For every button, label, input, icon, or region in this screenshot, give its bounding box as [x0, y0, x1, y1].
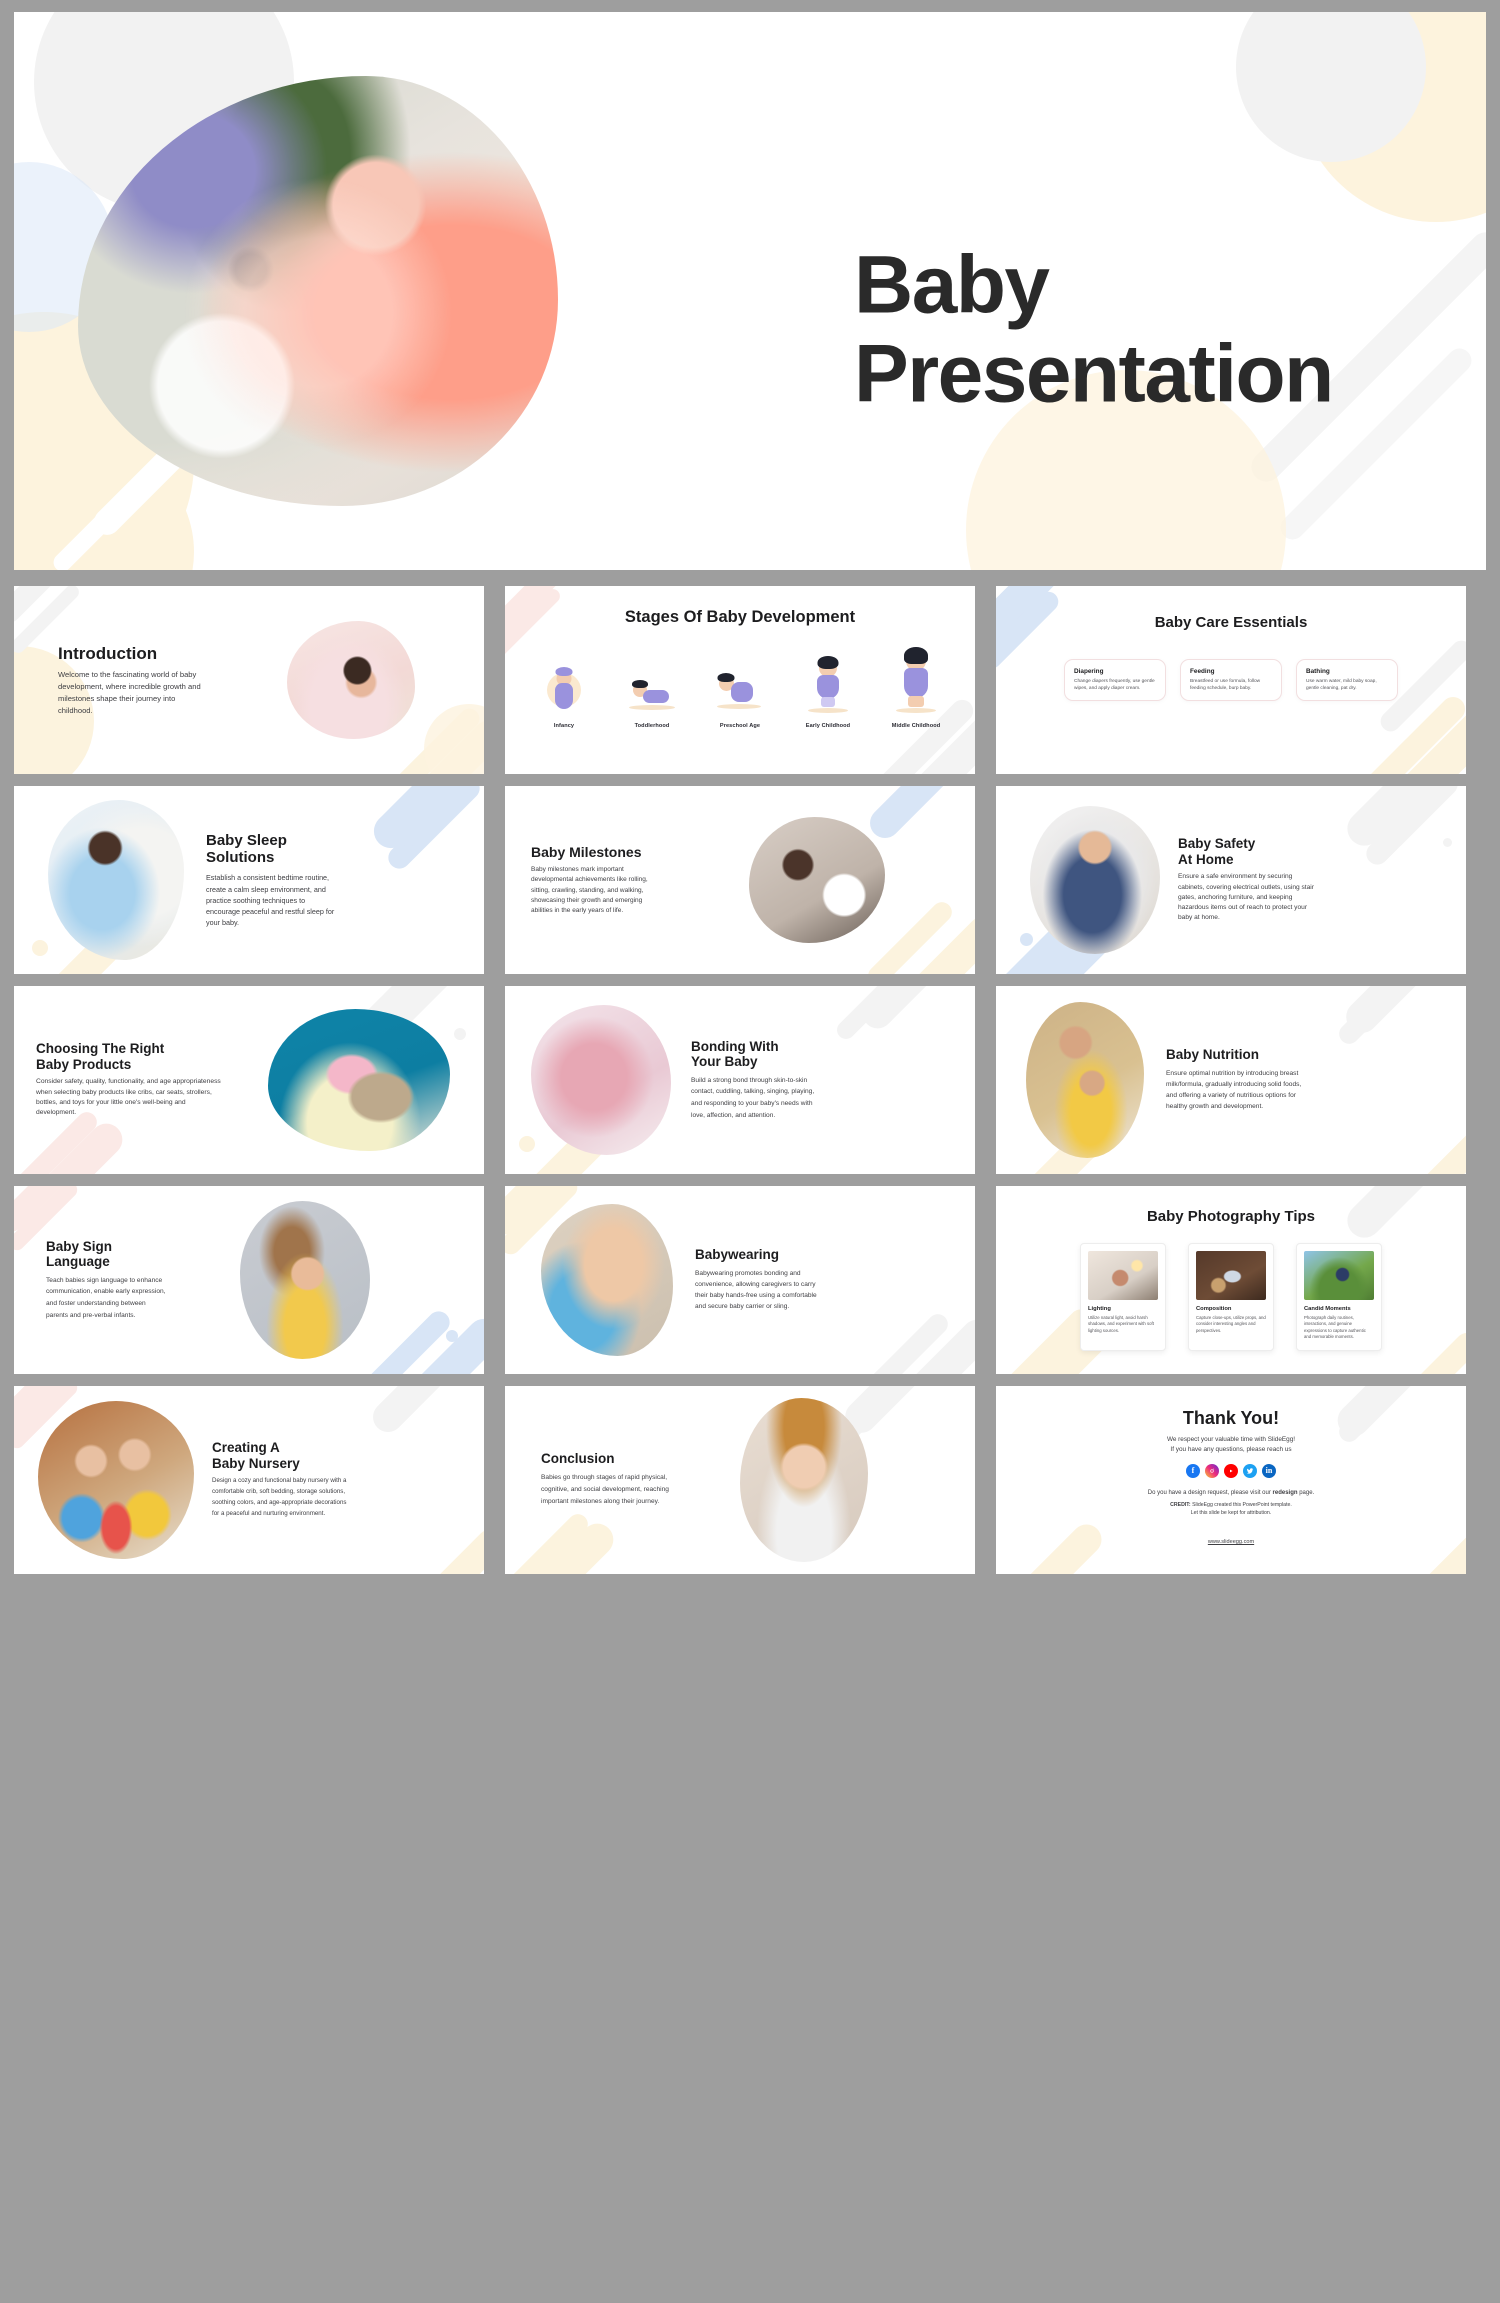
photography-card-row: Lighting Utilize natural light, avoid ha… [996, 1243, 1466, 1351]
slide-photo [740, 1398, 868, 1562]
slide-introduction[interactable]: Introduction Welcome to the fascinating … [14, 586, 484, 774]
slide-title-line-2: Solutions [206, 849, 400, 866]
credit-body: SlideEgg created this PowerPoint templat… [1191, 1502, 1292, 1508]
card-title: Lighting [1088, 1306, 1158, 1312]
slide-title-line-1: Baby Safety [1178, 836, 1386, 852]
preschool-age-figure [709, 663, 771, 715]
slide-title-line-2: Baby Products [36, 1057, 268, 1073]
credit-label: CREDIT: [1170, 1502, 1190, 1508]
instagram-icon[interactable] [1205, 1464, 1219, 1478]
slide-baby-nutrition[interactable]: Baby Nutrition Ensure optimal nutrition … [996, 986, 1466, 1174]
slide-body: Establish a consistent bedtime routine, … [206, 872, 338, 928]
stage-label: Preschool Age [709, 723, 771, 729]
slide-title-line-2: At Home [1178, 852, 1386, 868]
slide-body: Teach babies sign language to enhance co… [46, 1275, 166, 1321]
slide-body: Babywearing promotes bonding and conveni… [695, 1268, 827, 1313]
stage-label: Middle Childhood [885, 723, 947, 729]
early-childhood-figure [797, 657, 859, 715]
slide-title: Baby Milestones [531, 844, 749, 860]
card-photo [1304, 1251, 1374, 1300]
slide-photo [240, 1201, 370, 1359]
slide-body: Ensure optimal nutrition by introducing … [1166, 1068, 1308, 1113]
slide-title: Baby Care Essentials [996, 614, 1466, 631]
slide-title: Baby Sign Language [46, 1239, 240, 1270]
card-body: Capture close-ups, utilize props, and co… [1196, 1315, 1266, 1334]
credit-text: CREDIT: SlideEgg created this PowerPoint… [996, 1501, 1466, 1518]
slide-body: Build a strong bond through skin-to-skin… [691, 1075, 817, 1121]
stage-item: Toddlerhood [621, 663, 683, 729]
stage-label: Early Childhood [797, 723, 859, 729]
slide-title-line-2: Your Baby [691, 1054, 887, 1070]
stage-label: Infancy [533, 723, 595, 729]
slide-baby-safety-at-home[interactable]: Baby Safety At Home Ensure a safe enviro… [996, 786, 1466, 974]
presentation-preview-page: Baby Presentation Introduction Welcome t… [0, 0, 1500, 2303]
card-title: Candid Moments [1304, 1306, 1374, 1312]
slide-baby-photography-tips[interactable]: Baby Photography Tips Lighting Utilize n… [996, 1186, 1466, 1374]
hero-slide[interactable]: Baby Presentation [14, 12, 1486, 570]
youtube-icon[interactable] [1224, 1464, 1238, 1478]
card-body: Photograph daily routines, interactions,… [1304, 1315, 1374, 1341]
slide-photo [48, 800, 184, 960]
thank-you-line-2: If you have any questions, please reach … [996, 1445, 1466, 1455]
slide-title: Bonding With Your Baby [691, 1039, 887, 1070]
slide-title: Babywearing [695, 1247, 889, 1263]
middle-childhood-figure [885, 649, 947, 715]
toddlerhood-figure [621, 663, 683, 715]
slide-conclusion[interactable]: Conclusion Babies go through stages of r… [505, 1386, 975, 1574]
facebook-icon[interactable]: f [1186, 1464, 1200, 1478]
stage-label: Toddlerhood [621, 723, 683, 729]
slide-photo [749, 817, 885, 943]
twitter-icon[interactable] [1243, 1464, 1257, 1478]
linkedin-icon[interactable]: in [1262, 1464, 1276, 1478]
slide-stages-of-baby-development[interactable]: Stages Of Baby Development Infancy [505, 586, 975, 774]
card-body: Use warm water, mild baby soap, gentle c… [1306, 678, 1388, 692]
photography-card[interactable]: Composition Capture close-ups, utilize p… [1188, 1243, 1274, 1351]
slide-photo [287, 621, 415, 739]
slide-title-line-1: Choosing The Right [36, 1041, 268, 1057]
stage-item: Preschool Age [709, 663, 771, 729]
website-link[interactable]: www.slideegg.com [996, 1538, 1466, 1547]
slide-choosing-the-right-baby-products[interactable]: Choosing The Right Baby Products Conside… [14, 986, 484, 1174]
design-request-text: Do you have a design request, please vis… [996, 1489, 1466, 1499]
hero-title: Baby Presentation [854, 241, 1333, 418]
slide-title: Thank You! [996, 1408, 1466, 1429]
slide-baby-sleep-solutions[interactable]: Baby Sleep Solutions Establish a consist… [14, 786, 484, 974]
slide-body: Baby milestones mark important developme… [531, 865, 663, 915]
slide-body: Ensure a safe environment by securing ca… [1178, 872, 1318, 923]
card-title: Composition [1196, 1306, 1266, 1312]
slide-bonding-with-your-baby[interactable]: Bonding With Your Baby Build a strong bo… [505, 986, 975, 1174]
slide-title-line-2: Language [46, 1254, 240, 1270]
design-request-suffix: page. [1298, 1490, 1315, 1496]
slide-photo [1026, 1002, 1144, 1158]
slide-title: Baby Nutrition [1166, 1047, 1379, 1063]
slide-title-line-1: Creating A [212, 1440, 420, 1456]
essentials-card-row: Diapering Change diapers frequently, use… [996, 659, 1466, 701]
slide-baby-sign-language[interactable]: Baby Sign Language Teach babies sign lan… [14, 1186, 484, 1374]
slide-title-line-1: Baby Sign [46, 1239, 240, 1255]
slide-title: Baby Photography Tips [996, 1208, 1466, 1225]
slide-babywearing[interactable]: Babywearing Babywearing promotes bonding… [505, 1186, 975, 1374]
slide-body: Babies go through stages of rapid physic… [541, 1472, 669, 1509]
infancy-figure [533, 663, 595, 715]
slide-title: Baby Safety At Home [1178, 836, 1386, 867]
slide-title: Conclusion [541, 1451, 740, 1467]
slide-creating-a-baby-nursery[interactable]: Creating A Baby Nursery Design a cozy an… [14, 1386, 484, 1574]
slide-title-line-1: Baby Sleep [206, 832, 400, 849]
photography-card[interactable]: Lighting Utilize natural light, avoid ha… [1080, 1243, 1166, 1351]
social-links: f in [996, 1464, 1466, 1478]
slide-title: Stages Of Baby Development [505, 608, 975, 627]
credit-note: Let this slide be kept for attribution. [1026, 1509, 1436, 1517]
slide-title-line-1: Bonding With [691, 1039, 887, 1055]
slide-baby-care-essentials[interactable]: Baby Care Essentials Diapering Change di… [996, 586, 1466, 774]
card-photo [1196, 1251, 1266, 1300]
essentials-card[interactable]: Bathing Use warm water, mild baby soap, … [1296, 659, 1398, 701]
slide-title: Baby Sleep Solutions [206, 832, 400, 867]
slide-title-line-2: Baby Nursery [212, 1456, 420, 1472]
slide-baby-milestones[interactable]: Baby Milestones Baby milestones mark imp… [505, 786, 975, 974]
stage-item: Infancy [533, 663, 595, 729]
slide-title: Choosing The Right Baby Products [36, 1041, 268, 1072]
slide-body: Consider safety, quality, functionality,… [36, 1077, 224, 1119]
hero-title-line-1: Baby [854, 241, 1333, 330]
slide-photo [1030, 806, 1160, 954]
redesign-link[interactable]: redesign [1273, 1490, 1298, 1496]
hero-title-line-2: Presentation [854, 330, 1333, 419]
slide-photo [38, 1401, 194, 1559]
slide-thumbnail-grid: Introduction Welcome to the fascinating … [14, 586, 1486, 1574]
slide-title: Creating A Baby Nursery [212, 1440, 420, 1471]
essentials-card[interactable]: Feeding Breastfeed or use formula, follo… [1180, 659, 1282, 701]
stage-item: Early Childhood [797, 657, 859, 729]
slide-thank-you[interactable]: Thank You! We respect your valuable time… [996, 1386, 1466, 1574]
stages-list: Infancy Toddlerhood [505, 649, 975, 729]
card-body: Change diapers frequently, use gentle wi… [1074, 678, 1156, 692]
stage-item: Middle Childhood [885, 649, 947, 729]
slide-photo [268, 1009, 450, 1151]
slide-body: Design a cozy and functional baby nurser… [212, 1476, 352, 1519]
card-title: Feeding [1190, 668, 1272, 675]
card-body: Utilize natural light, avoid harsh shado… [1088, 1315, 1158, 1334]
card-body: Breastfeed or use formula, follow feedin… [1190, 678, 1272, 692]
essentials-card[interactable]: Diapering Change diapers frequently, use… [1064, 659, 1166, 701]
card-title: Bathing [1306, 668, 1388, 675]
slide-body: Welcome to the fascinating world of baby… [58, 669, 208, 716]
slide-photo [541, 1204, 673, 1356]
thank-you-line-1: We respect your valuable time with Slide… [996, 1435, 1466, 1445]
card-title: Diapering [1074, 668, 1156, 675]
slide-title: Introduction [58, 644, 287, 664]
card-photo [1088, 1251, 1158, 1300]
photography-card[interactable]: Candid Moments Photograph daily routines… [1296, 1243, 1382, 1351]
slide-photo [531, 1005, 671, 1155]
design-request-prefix: Do you have a design request, please vis… [1148, 1490, 1273, 1496]
